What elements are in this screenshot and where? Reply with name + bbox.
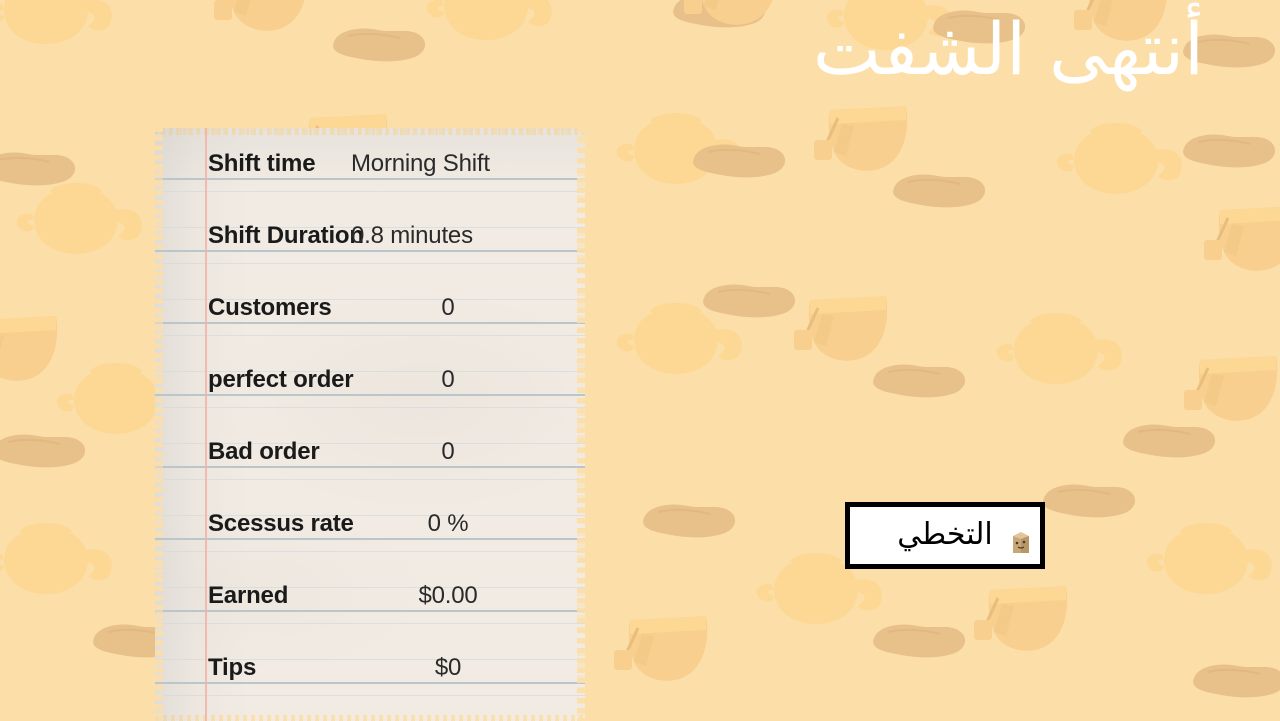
summary-row-tips: Tips $0 (155, 632, 585, 704)
row-label: Shift time (208, 150, 315, 178)
row-value: $0.00 (355, 582, 541, 610)
paper-bag-icon (1010, 530, 1032, 554)
row-label: Earned (208, 582, 288, 610)
row-label: Scessus rate (208, 510, 354, 538)
skip-button-label: التخطي (897, 520, 993, 550)
row-value: $0 (355, 654, 541, 682)
row-value: 0 % (355, 510, 541, 538)
summary-rows: Shift time Morning Shift Shift Duration … (155, 128, 585, 721)
summary-row-scessus-rate: Scessus rate 0 % (155, 488, 585, 560)
row-value: 0 (355, 366, 541, 394)
row-value: 0.8 minutes (351, 222, 565, 250)
row-value: 0 (355, 294, 541, 322)
row-label: perfect order (208, 366, 353, 394)
row-label: Bad order (208, 438, 320, 466)
shift-summary-paper: Shift time Morning Shift Shift Duration … (155, 128, 585, 721)
summary-row-bad-order: Bad order 0 (155, 416, 585, 488)
page-title: أنتهى الشفت (813, 4, 1204, 94)
summary-row-customers: Customers 0 (155, 272, 585, 344)
row-label: Shift Duration (208, 222, 364, 250)
skip-button[interactable]: التخطي (845, 502, 1045, 569)
summary-row-perfect-order: perfect order 0 (155, 344, 585, 416)
row-label: Tips (208, 654, 256, 682)
row-value: 0 (355, 438, 541, 466)
summary-row-earned: Earned $0.00 (155, 560, 585, 632)
summary-row-shift-duration: Shift Duration 0.8 minutes (155, 200, 585, 272)
row-label: Customers (208, 294, 332, 322)
summary-row-shift-time: Shift time Morning Shift (155, 128, 585, 200)
row-value: Morning Shift (351, 150, 565, 178)
